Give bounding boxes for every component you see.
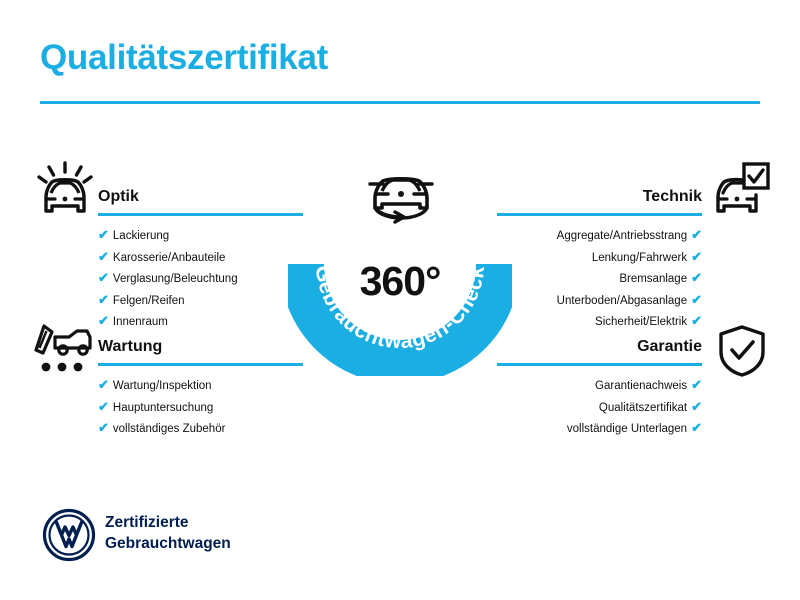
list-item-label: Aggregate/Antriebsstrang — [557, 227, 687, 247]
car-shine-icon — [36, 161, 94, 217]
list-item-label: Bremsanlage — [619, 270, 687, 290]
check-icon: ✔ — [691, 290, 702, 310]
check-icon: ✔ — [691, 375, 702, 395]
section-wartung-title: Wartung — [98, 336, 303, 358]
list-item: Qualitätszertifikat ✔ — [497, 397, 702, 419]
list-item: ✔ Lackierung — [98, 225, 303, 247]
list-item-label: Lenkung/Fahrwerk — [592, 249, 687, 269]
list-item: ✔ Felgen/Reifen — [98, 290, 303, 312]
check-icon: ✔ — [691, 418, 702, 438]
list-item-label: Verglasung/Beleuchtung — [113, 270, 238, 290]
check-icon: ✔ — [691, 268, 702, 288]
check-icon: ✔ — [98, 418, 109, 438]
list-item-label: Innenraum — [113, 313, 168, 333]
section-garantie-header: Garantie — [497, 336, 702, 366]
section-wartung-list: ✔ Wartung/Inspektion ✔ Hauptuntersuchung… — [98, 375, 303, 440]
title-divider — [40, 101, 760, 104]
car-checkbox-icon — [712, 161, 770, 217]
section-optik-list: ✔ Lackierung ✔ Karosserie/Anbauteile ✔ V… — [98, 225, 303, 333]
check-icon: ✔ — [98, 268, 109, 288]
section-wartung: Wartung ✔ Wartung/Inspektion ✔ Hauptunte… — [98, 336, 303, 440]
list-item: vollständige Unterlagen ✔ — [497, 418, 702, 440]
list-item-label: Qualitätszertifikat — [599, 399, 687, 419]
section-technik-list: Aggregate/Antriebsstrang ✔ Lenkung/Fahrw… — [497, 225, 702, 333]
section-optik-header: Optik — [98, 186, 303, 216]
list-item: ✔ vollständiges Zubehör — [98, 418, 303, 440]
shield-check-icon — [717, 325, 767, 377]
car-rotate-360-icon — [357, 158, 445, 224]
vw-lockup-text: Zertifizierte Gebrauchtwagen — [105, 512, 231, 554]
list-item-label: Wartung/Inspektion — [113, 377, 212, 397]
check-icon: ✔ — [691, 225, 702, 245]
list-item-label: Garantienachweis — [595, 377, 687, 397]
car-service-wrench-icon — [33, 323, 93, 377]
list-item-label: Felgen/Reifen — [113, 292, 185, 312]
list-item: ✔ Karosserie/Anbauteile — [98, 247, 303, 269]
section-garantie-divider — [497, 363, 702, 366]
list-item: ✔ Hauptuntersuchung — [98, 397, 303, 419]
section-optik-divider — [98, 213, 303, 216]
section-technik: Technik Aggregate/Antriebsstrang ✔ Lenku… — [497, 186, 702, 333]
page-title: Qualitätszertifikat — [40, 38, 328, 78]
list-item-label: Unterboden/Abgasanlage — [557, 292, 687, 312]
list-item-label: vollständiges Zubehör — [113, 420, 226, 440]
section-optik-title: Optik — [98, 186, 303, 208]
list-item-label: Lackierung — [113, 227, 169, 247]
list-item: Sicherheit/Elektrik ✔ — [497, 311, 702, 333]
section-technik-title: Technik — [497, 186, 702, 208]
badge-degrees-label: 360° — [288, 258, 512, 305]
certificate-page: Qualitätszertifikat — [0, 0, 800, 600]
section-garantie-list: Garantienachweis ✔ Qualitätszertifikat ✔… — [497, 375, 702, 440]
section-garantie-title: Garantie — [497, 336, 702, 358]
section-wartung-divider — [98, 363, 303, 366]
check-icon: ✔ — [98, 225, 109, 245]
list-item: ✔ Innenraum — [98, 311, 303, 333]
list-item: Aggregate/Antriebsstrang ✔ — [497, 225, 702, 247]
check-icon: ✔ — [98, 311, 109, 331]
check-icon: ✔ — [98, 290, 109, 310]
check-icon: ✔ — [691, 397, 702, 417]
check-icon: ✔ — [691, 311, 702, 331]
list-item-label: vollständige Unterlagen — [567, 420, 687, 440]
vw-lockup-line1: Zertifizierte — [105, 512, 231, 533]
list-item-label: Sicherheit/Elektrik — [595, 313, 687, 333]
section-optik: Optik ✔ Lackierung ✔ Karosserie/Anbautei… — [98, 186, 303, 333]
section-wartung-header: Wartung — [98, 336, 303, 366]
vw-lockup-line2: Gebrauchtwagen — [105, 533, 231, 554]
list-item: ✔ Verglasung/Beleuchtung — [98, 268, 303, 290]
check-icon: ✔ — [98, 397, 109, 417]
section-garantie: Garantie Garantienachweis ✔ Qualitätszer… — [497, 336, 702, 440]
volkswagen-logo — [42, 508, 96, 562]
check-icon: ✔ — [98, 247, 109, 267]
list-item: Bremsanlage ✔ — [497, 268, 702, 290]
section-technik-divider — [497, 213, 702, 216]
list-item: Lenkung/Fahrwerk ✔ — [497, 247, 702, 269]
section-technik-header: Technik — [497, 186, 702, 216]
check-icon: ✔ — [691, 247, 702, 267]
list-item: Garantienachweis ✔ — [497, 375, 702, 397]
list-item-label: Hauptuntersuchung — [113, 399, 213, 419]
list-item-label: Karosserie/Anbauteile — [113, 249, 226, 269]
list-item: Unterboden/Abgasanlage ✔ — [497, 290, 702, 312]
list-item: ✔ Wartung/Inspektion — [98, 375, 303, 397]
check-icon: ✔ — [98, 375, 109, 395]
